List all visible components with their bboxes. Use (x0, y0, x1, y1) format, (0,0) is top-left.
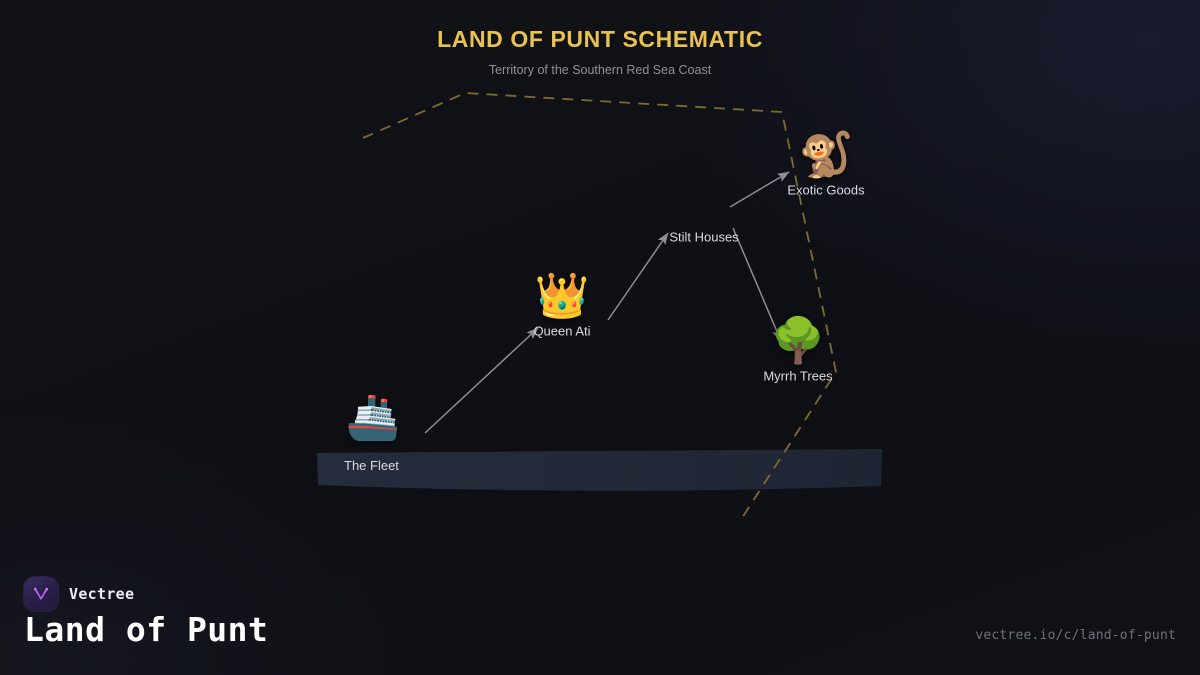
sea-band-label: The Fleet (344, 458, 399, 473)
node-label-myrrh-trees: Myrrh Trees (723, 369, 873, 384)
ship-icon: 🚢 (298, 393, 448, 443)
crown-icon: 👑 (487, 272, 637, 322)
node-exotic-goods[interactable]: 🐒 Exotic Goods (751, 131, 901, 198)
footer: Vectree Land of Punt vectree.io/c/land-o… (0, 560, 1200, 675)
brand-name: Vectree (69, 585, 134, 603)
node-myrrh-trees[interactable]: 🌳 Myrrh Trees (723, 317, 873, 384)
schematic-canvas: LAND OF PUNT SCHEMATIC Territory of the … (0, 0, 1200, 675)
vectree-logo-icon (24, 577, 58, 611)
brand-row[interactable]: Vectree (24, 577, 134, 611)
node-queen-ati[interactable]: 👑 Queen Ati (487, 272, 637, 339)
footer-url: vectree.io/c/land-of-punt (975, 628, 1176, 643)
monkey-icon: 🐒 (751, 131, 901, 181)
node-the-fleet[interactable]: 🚢 (298, 393, 448, 443)
tree-icon: 🌳 (723, 317, 873, 367)
node-label-queen-ati: Queen Ati (487, 324, 637, 339)
sea-band (317, 449, 882, 491)
node-label-exotic-goods: Exotic Goods (751, 183, 901, 198)
page-subtitle: Territory of the Southern Red Sea Coast (0, 63, 1200, 77)
node-label-stilt-houses: Stilt Houses (629, 230, 779, 245)
page-title: LAND OF PUNT SCHEMATIC (0, 26, 1200, 53)
footer-title: Land of Punt (24, 610, 268, 649)
